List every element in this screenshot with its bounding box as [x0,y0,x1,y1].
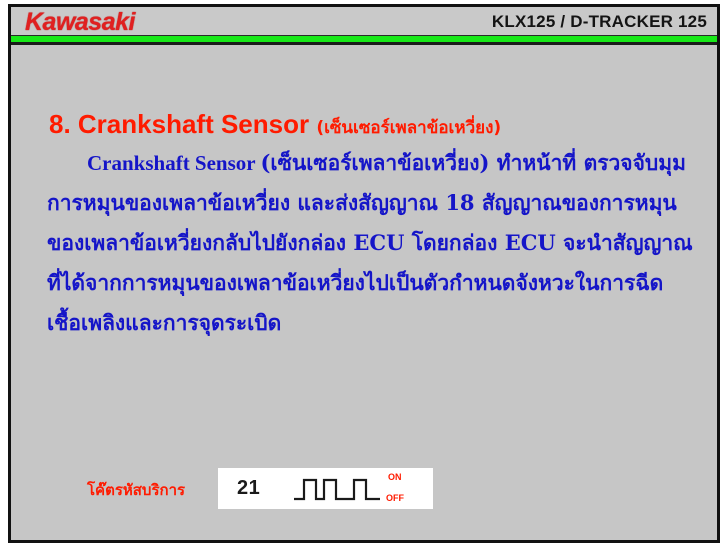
page-title-english: 8. Crankshaft Sensor [49,109,316,139]
model-title: KLX125 / D-TRACKER 125 [492,12,707,32]
body-paragraph-lead: Crankshaft Sensor [87,151,260,175]
page-title-thai: (เซ็นเซอร์เพลาข้อเหวี่ยง) [316,118,501,138]
header-band: Kawasaki KLX125 / D-TRACKER 125 [11,7,717,36]
body-paragraph: Crankshaft Sensor (เซ็นเซอร์เพลาข้อเหวี่… [47,143,695,343]
service-code-box: 21 ON OFF [218,468,433,509]
kawasaki-logo: Kawasaki [25,8,135,37]
body-paragraph-text: (เซ็นเซอร์เพลาข้อเหวี่ยง) ทำหน้าที่ ตรวจ… [47,150,693,335]
service-code-value: 21 [237,477,260,500]
slide-content: 8. Crankshaft Sensor (เซ็นเซอร์เพลาข้อเห… [11,45,717,540]
slide-frame: Kawasaki KLX125 / D-TRACKER 125 8. Crank… [8,4,720,543]
signal-on-label: ON [388,472,402,482]
service-code-label: โค๊ตรหัสบริการ [87,478,185,502]
signal-off-label: OFF [386,493,404,503]
page-title: 8. Crankshaft Sensor (เซ็นเซอร์เพลาข้อเห… [49,104,501,141]
square-pulse-waveform-icon [292,475,382,503]
